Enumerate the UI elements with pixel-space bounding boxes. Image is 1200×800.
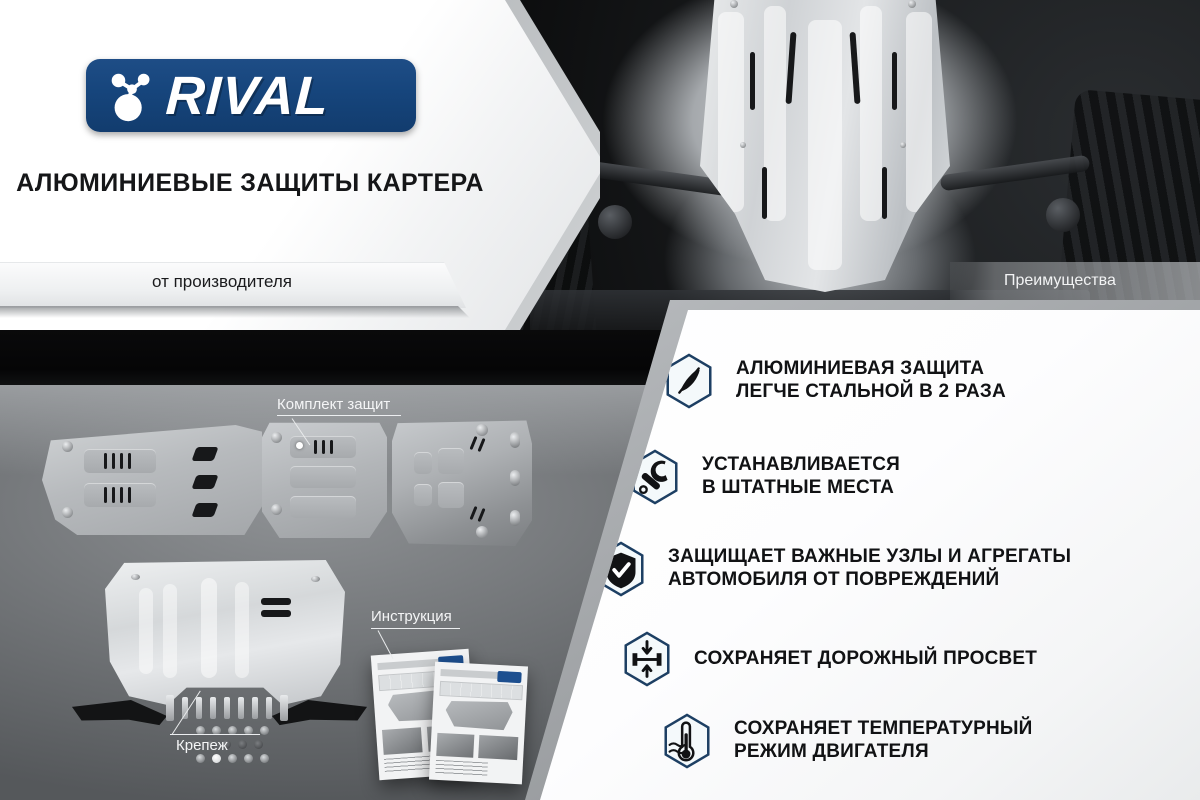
advantages-tab-label: Преимущества [1004, 272, 1116, 290]
advantage-label-2: УСТАНАВЛИВАЕТСЯ В ШТАТНЫЕ МЕСТА [702, 454, 900, 500]
advantages-tab[interactable]: Преимущества [950, 262, 1200, 300]
advantage-item-5: СОХРАНЯЕТ ТЕМПЕРАТУРНЫЙ РЕЖИМ ДВИГАТЕЛЯ [658, 712, 1033, 770]
clearance-icon [618, 630, 676, 688]
installed-skid-plate-photo [700, 0, 950, 292]
rival-logo[interactable]: RIVAL [86, 59, 416, 132]
bushing-right-decor [1046, 198, 1080, 232]
advantage-label-3: ЗАЩИЩАЕТ ВАЖНЫЕ УЗЛЫ И АГРЕГАТЫ АВТОМОБИ… [668, 546, 1071, 592]
hero-subtitle-band-shadow [0, 306, 600, 318]
engine-skid-plate-large [105, 560, 345, 705]
rival-logo-text: RIVAL [165, 69, 331, 123]
advantage-item-1: АЛЮМИНИЕВАЯ ЗАЩИТА ЛЕГЧЕ СТАЛЬНОЙ В 2 РА… [660, 352, 1006, 410]
advantage-item-2: УСТАНАВЛИВАЕТСЯ В ШТАТНЫЕ МЕСТА [626, 448, 900, 506]
advantage-item-3: ЗАЩИЩАЕТ ВАЖНЫЕ УЗЛЫ И АГРЕГАТЫ АВТОМОБИ… [592, 540, 1071, 598]
promo-banner: Преимущества [0, 0, 1200, 800]
skid-plate-part-3 [392, 418, 532, 546]
callout-instruction-label: Инструкция [371, 608, 452, 625]
hero-subtitle: от производителя [0, 272, 444, 292]
advantage-label-1: АЛЮМИНИЕВАЯ ЗАЩИТА ЛЕГЧЕ СТАЛЬНОЙ В 2 РА… [736, 358, 1006, 404]
hero-panel: RIVAL АЛЮМИНИЕВЫЕ ЗАЩИТЫ КАРТЕРА от прои… [0, 0, 600, 330]
bushing-left-decor [598, 205, 632, 239]
thermometer-icon [658, 712, 716, 770]
molecule-icon [102, 65, 164, 127]
advantage-label-4: СОХРАНЯЕТ ДОРОЖНЫЙ ПРОСВЕТ [694, 648, 1037, 671]
advantage-label-5: СОХРАНЯЕТ ТЕМПЕРАТУРНЫЙ РЕЖИМ ДВИГАТЕЛЯ [734, 718, 1033, 764]
callout-fasteners-label: Крепеж [176, 737, 228, 754]
page-title: АЛЮМИНИЕВЫЕ ЗАЩИТЫ КАРТЕРА [0, 168, 500, 199]
callout-protection-kit-label: Комплект защит [277, 396, 390, 413]
skid-plate-part-2 [262, 418, 387, 538]
instruction-sheet-back [429, 662, 528, 785]
skid-plate-part-1 [42, 425, 262, 535]
advantage-item-4: СОХРАНЯЕТ ДОРОЖНЫЙ ПРОСВЕТ [618, 630, 1037, 688]
